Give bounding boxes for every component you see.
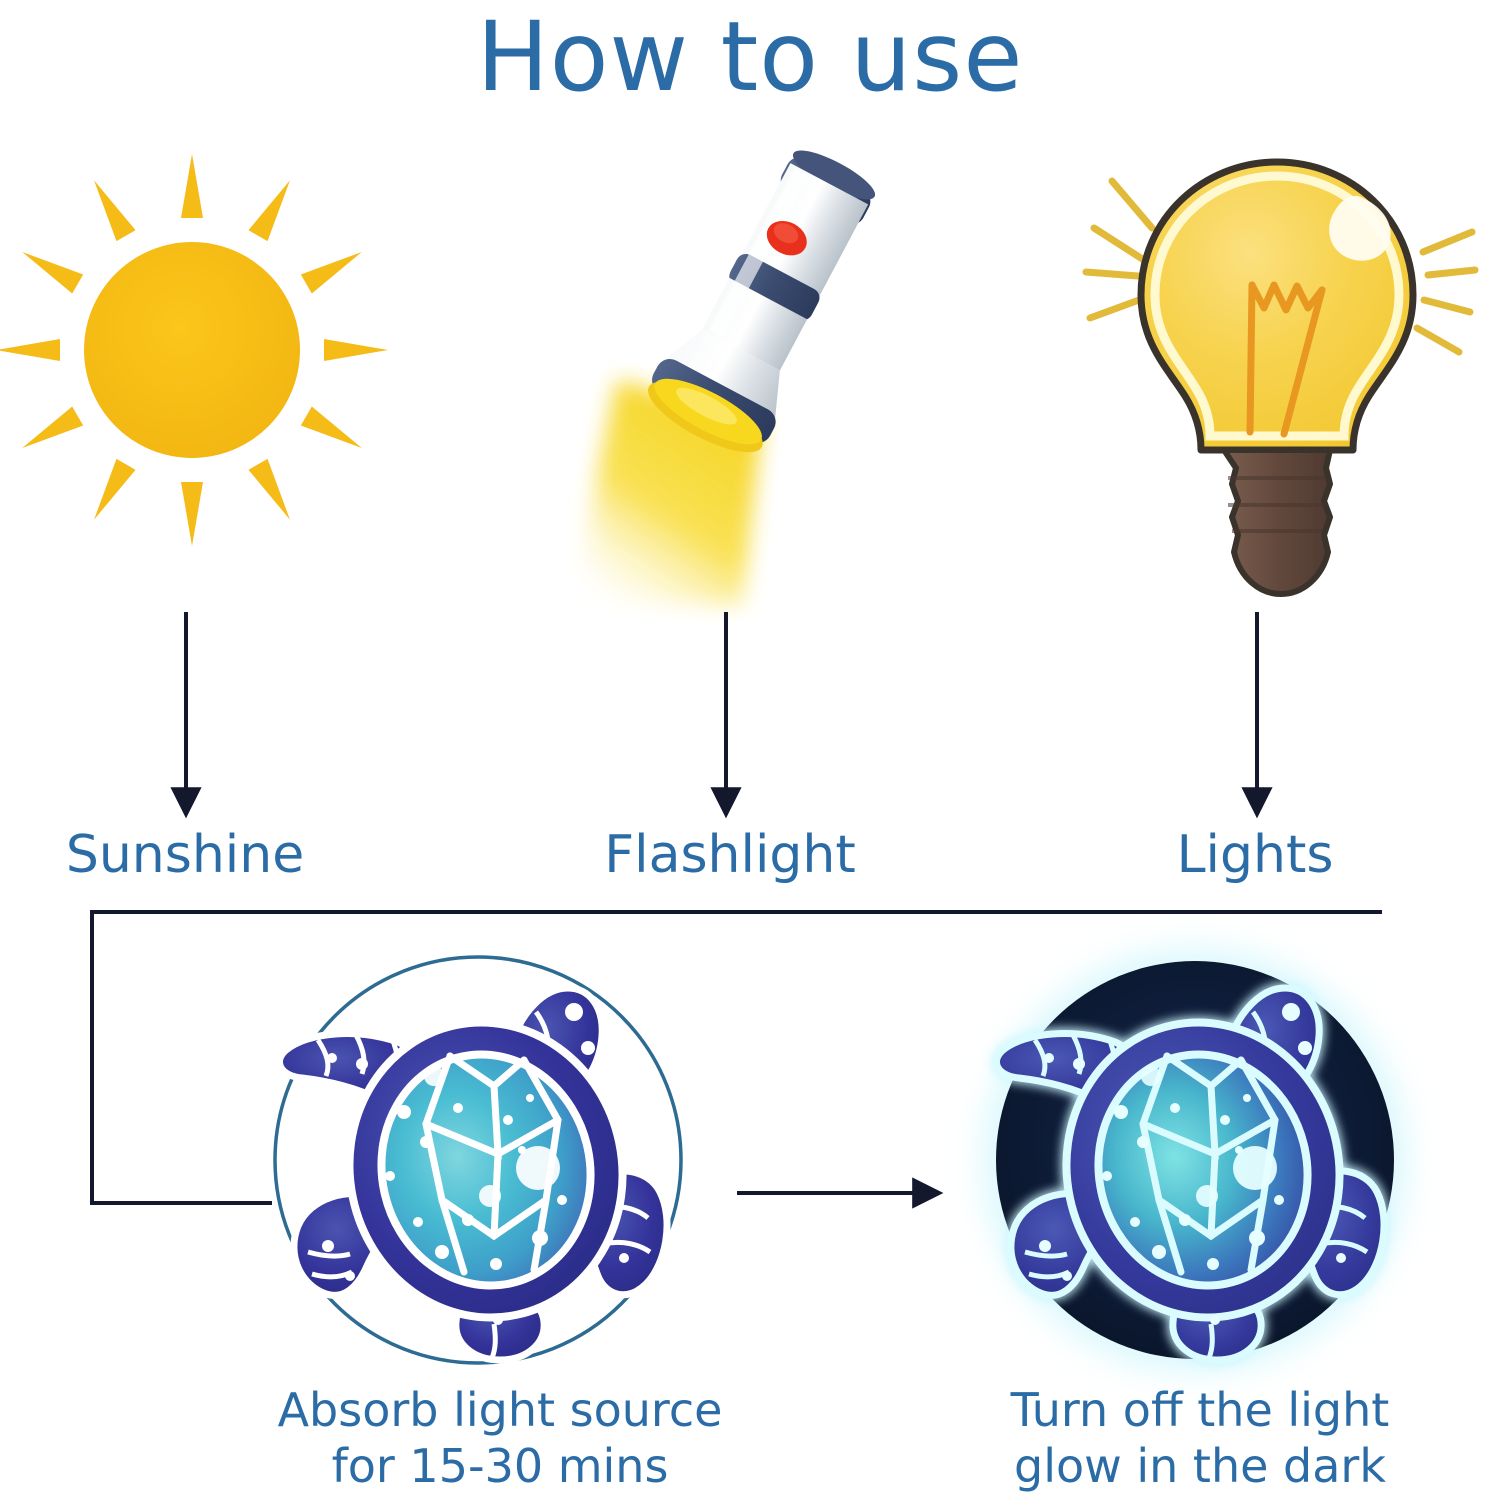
infographic-canvas: How to use: [0, 0, 1500, 1497]
result-caption-glow: Turn off the light glow in the dark: [880, 1382, 1500, 1494]
step-label-sunshine: Sunshine: [0, 826, 370, 884]
collector-bracket: [92, 912, 1382, 1203]
step-label-flashlight: Flashlight: [565, 826, 895, 884]
result-caption-absorb: Absorb light source for 15-30 mins: [155, 1382, 845, 1494]
page-title: How to use: [0, 2, 1500, 112]
sea-turtle-glow-icon: [983, 948, 1407, 1372]
result-art-layer: [0, 0, 1500, 1497]
lightbulb-icon: [1086, 162, 1475, 594]
icon-art-layer: [0, 0, 1500, 1497]
sun-icon: [0, 154, 388, 546]
step-label-lights: Lights: [1090, 826, 1420, 884]
sea-turtle-light-icon: [275, 957, 681, 1363]
connector-layer: [0, 0, 1500, 1497]
flashlight-icon: [571, 132, 898, 606]
